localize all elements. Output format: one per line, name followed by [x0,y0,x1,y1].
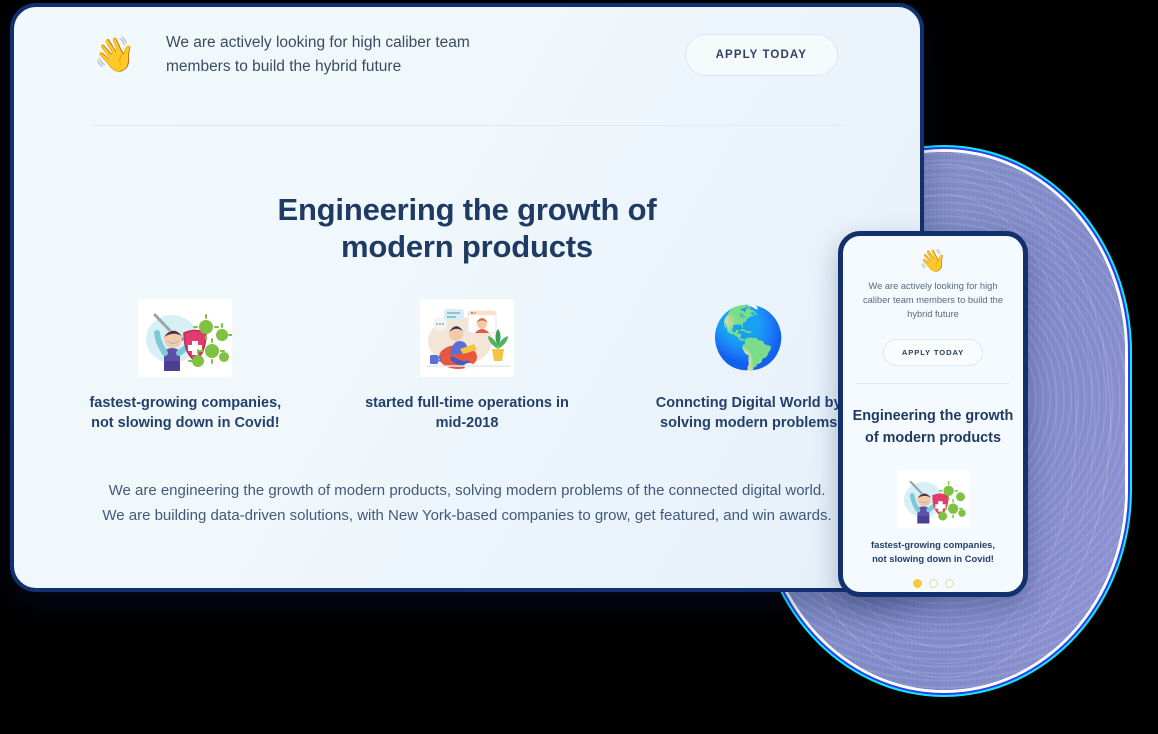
feature-label-digital-world: Conncting Digital World by solving moder… [624,393,874,433]
feature-label-digital-world-line1: Conncting Digital World by [656,395,842,411]
feature-item-covid: fastest-growing companies, not slowing d… [45,299,327,433]
feature-item-operations: started full-time operations in mid-2018 [326,299,608,433]
page-title-line1: Engineering the growth of [277,192,656,227]
feature-label-operations-line1: started full-time operations in [365,395,569,411]
pagination-dot-1[interactable] [913,579,922,588]
phone-page-title-line1: Engineering the growth [853,408,1014,424]
apply-today-button[interactable]: APPLY TODAY [883,339,983,366]
covid-warrior-illustration [897,470,969,528]
pagination-dot-3[interactable] [945,579,954,588]
apply-today-button[interactable]: APPLY TODAY [685,34,838,76]
phone-banner-divider [855,383,1011,384]
desktop-banner-line2: members to build the hybrid future [166,58,401,75]
desktop-banner-line1: We are actively looking for high caliber… [166,34,470,51]
covid-warrior-illustration [138,299,232,377]
waving-hand-icon: 👋 [92,38,138,72]
feature-label-operations: started full-time operations in mid-2018 [342,393,592,433]
phone-feature-label: fastest-growing companies, not slowing d… [843,538,1023,565]
globe-icon: 🌎 [702,299,796,377]
intro-paragraph-line2: We are building data-driven solutions, w… [45,504,890,529]
intro-paragraph-line1: We are engineering the growth of modern … [45,479,890,504]
page-title: Engineering the growth of modern product… [45,192,890,265]
phone-mockup: 👋 We are actively looking for high calib… [838,231,1028,597]
phone-banner-text: We are actively looking for high caliber… [857,279,1009,321]
intro-paragraph: We are engineering the growth of modern … [45,479,890,529]
remote-work-illustration [420,299,514,377]
phone-page-title: Engineering the growth of modern product… [843,406,1023,450]
phone-feature-label-line1: fastest-growing companies, [871,539,995,550]
desktop-browser-mockup: 👋 We are actively looking for high calib… [10,3,924,592]
phone-top-banner: 👋 We are actively looking for high calib… [843,236,1023,366]
phone-feature-label-line2: not slowing down in Covid! [872,553,994,564]
feature-label-operations-line2: mid-2018 [436,415,499,431]
feature-label-covid-line2: not slowing down in Covid! [91,415,279,431]
feature-label-digital-world-line2: solving modern problems [660,415,837,431]
feature-label-covid-line1: fastest-growing companies, [89,395,281,411]
features-row: fastest-growing companies, not slowing d… [45,299,890,433]
pagination-dot-2[interactable] [929,579,938,588]
desktop-banner-text: We are actively looking for high caliber… [166,31,496,78]
page-title-line2: modern products [45,229,890,266]
waving-hand-icon: 👋 [857,250,1009,272]
desktop-top-banner: 👋 We are actively looking for high calib… [14,7,920,81]
feature-label-covid: fastest-growing companies, not slowing d… [61,393,311,433]
phone-page-title-line2: of modern products [851,428,1015,450]
desktop-content: Engineering the growth of modern product… [14,126,920,529]
carousel-pagination[interactable] [843,579,1023,588]
